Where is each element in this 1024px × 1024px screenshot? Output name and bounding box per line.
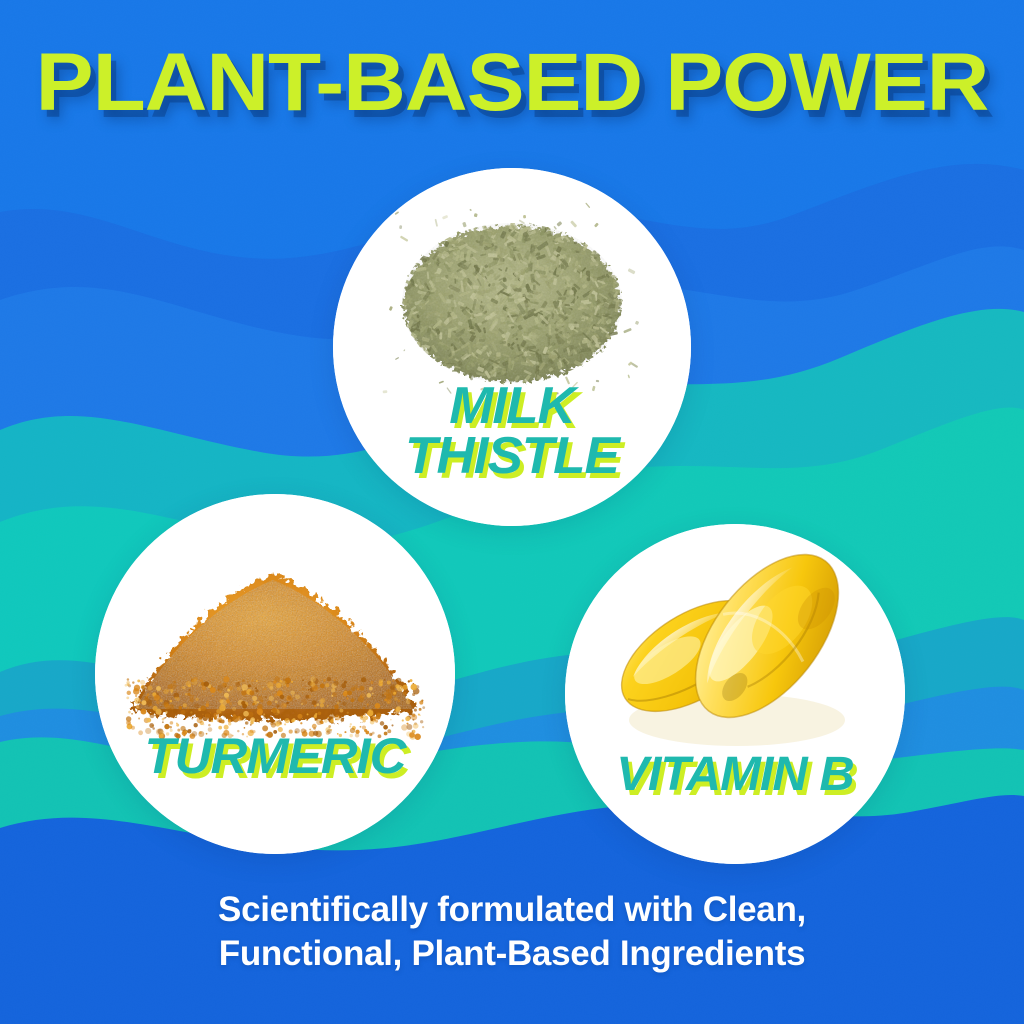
caption-text: Scientifically formulated with Clean, Fu… bbox=[0, 888, 1024, 977]
ingredient-label-turmeric: TURMERIC bbox=[95, 732, 455, 780]
softgel-capsules-image bbox=[565, 524, 905, 864]
ingredient-circle-milk-thistle[interactable]: MILK THISTLE bbox=[333, 168, 691, 526]
turmeric-image bbox=[95, 494, 455, 854]
page-title: PLANT-BASED POWER bbox=[0, 42, 1024, 124]
plant-based-power-poster: PLANT-BASED POWER bbox=[0, 0, 1024, 1024]
ingredient-label-vitamin-b: VITAMIN B bbox=[565, 752, 905, 798]
ingredient-circle-turmeric[interactable]: TURMERIC bbox=[95, 494, 455, 854]
ingredient-label-milk-thistle: MILK THISTLE bbox=[333, 382, 691, 482]
ingredient-circle-vitamin-b[interactable]: VITAMIN B bbox=[565, 524, 905, 864]
